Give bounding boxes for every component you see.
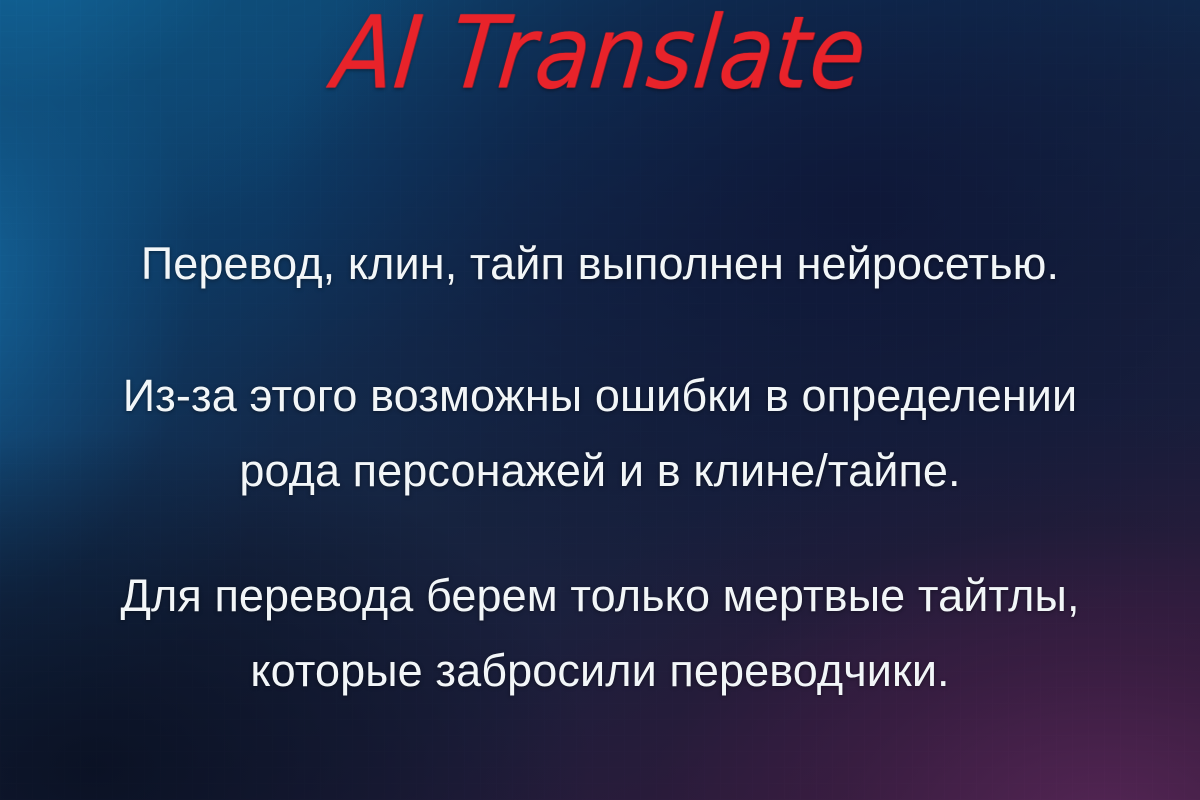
credits-card: AI Translate Перевод, клин, тайп выполне…	[0, 0, 1200, 800]
paragraph-errors-notice: Из-за этого возможны ошибки в определени…	[50, 358, 1150, 508]
content-layer: AI Translate Перевод, клин, тайп выполне…	[0, 0, 1200, 800]
page-title: AI Translate	[0, 0, 1200, 106]
paragraph-line: рода персонажей и в клине/тайпе.	[50, 433, 1150, 508]
paragraph-line: Из-за этого возможны ошибки в определени…	[50, 358, 1150, 433]
paragraph-dead-titles-notice: Для перевода берем только мертвые тайтлы…	[50, 558, 1150, 708]
paragraph-line: которые забросили переводчики.	[50, 633, 1150, 708]
paragraph-line: Перевод, клин, тайп выполнен нейросетью.	[50, 226, 1150, 301]
paragraph-line: Для перевода берем только мертвые тайтлы…	[50, 558, 1150, 633]
paragraph-neural-notice: Перевод, клин, тайп выполнен нейросетью.	[50, 226, 1150, 301]
